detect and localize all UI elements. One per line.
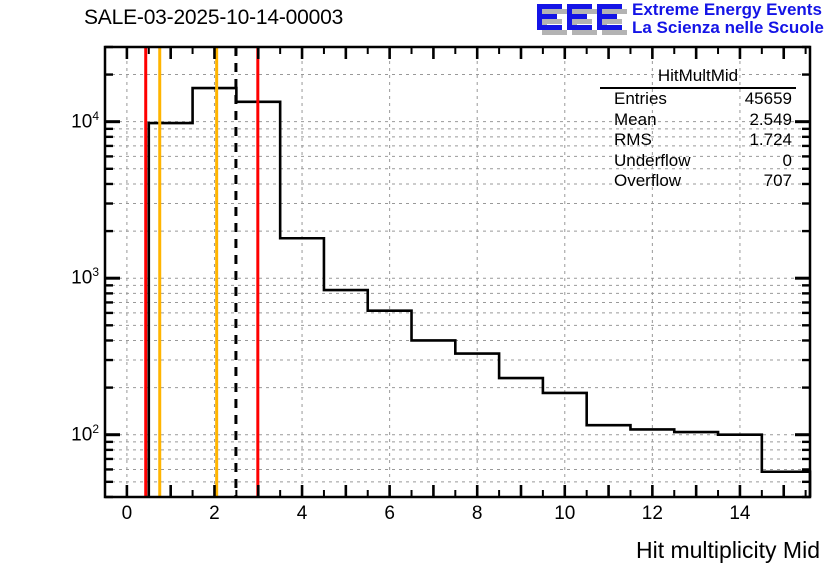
eee-logo-letters — [537, 4, 622, 30]
stats-title: HitMultMid — [600, 66, 796, 89]
y-tick-mantissa: 10 — [71, 424, 92, 445]
eee-logo-shadow — [542, 9, 627, 35]
stat-value: 1.724 — [749, 130, 792, 151]
x-tick-label: 14 — [720, 503, 760, 525]
stat-label: Mean — [614, 110, 657, 131]
y-tick-mantissa: 10 — [71, 111, 92, 132]
x-tick-label: 10 — [545, 503, 585, 525]
y-tick-exponent: 4 — [92, 109, 99, 123]
y-tick-label: 102 — [71, 422, 99, 446]
y-tick-mantissa: 10 — [71, 268, 92, 289]
stats-rows: Entries45659Mean2.549RMS1.724Underflow0O… — [600, 89, 796, 192]
stat-row: RMS1.724 — [600, 130, 796, 151]
stat-label: RMS — [614, 130, 652, 151]
stat-value: 707 — [764, 171, 792, 192]
eee-logo-line1: Extreme Energy Events — [632, 0, 822, 19]
x-tick-label: 4 — [282, 503, 322, 525]
stat-row: Entries45659 — [600, 89, 796, 110]
x-tick-label: 8 — [457, 503, 497, 525]
stat-label: Overflow — [614, 171, 681, 192]
eee-logo-mark — [536, 3, 628, 37]
stat-row: Mean2.549 — [600, 110, 796, 131]
y-tick-label: 103 — [71, 265, 99, 289]
y-tick-exponent: 2 — [92, 422, 99, 436]
x-tick-label: 6 — [370, 503, 410, 525]
stat-label: Entries — [614, 89, 667, 110]
stat-row: Overflow707 — [600, 171, 796, 192]
page-title: SALE-03-2025-10-14-00003 — [84, 6, 343, 30]
x-tick-label: 0 — [107, 503, 147, 525]
y-tick-exponent: 3 — [92, 265, 99, 279]
y-tick-label: 104 — [71, 109, 99, 133]
eee-logo-line2: La Scienza nelle Scuole — [632, 19, 824, 37]
eee-logo-text: Extreme Energy Events La Scienza nelle S… — [632, 1, 824, 37]
x-tick-label: 12 — [632, 503, 672, 525]
stats-box: HitMultMid Entries45659Mean2.549RMS1.724… — [600, 66, 796, 192]
stat-value: 0 — [783, 151, 792, 172]
stat-value: 45659 — [745, 89, 792, 110]
eee-logo: Extreme Energy Events La Scienza nelle S… — [536, 2, 834, 40]
x-axis-title: Hit multiplicity Mid — [636, 537, 820, 564]
marker-lines — [146, 47, 258, 497]
stat-value: 2.549 — [749, 110, 792, 131]
stat-label: Underflow — [614, 151, 691, 172]
stat-row: Underflow0 — [600, 151, 796, 172]
x-tick-label: 2 — [194, 503, 234, 525]
